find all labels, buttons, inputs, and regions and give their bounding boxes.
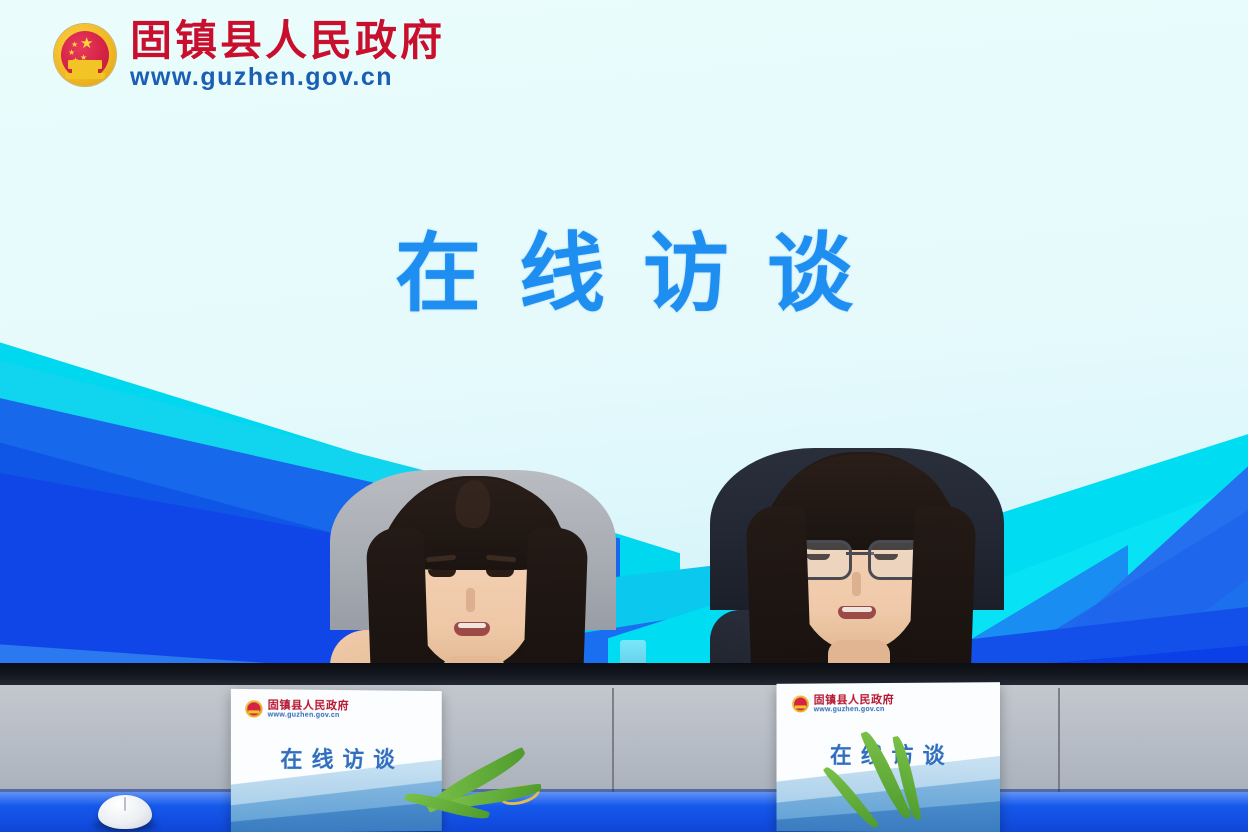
desk-gloss-highlight <box>0 792 1248 806</box>
person-left-teeth <box>458 623 486 628</box>
placard-title: 在线访谈 <box>231 742 442 775</box>
desk-dark-band <box>0 663 1248 685</box>
mouse-button-split <box>124 797 126 811</box>
computer-mouse[interactable] <box>98 795 152 829</box>
placard-emblem-disc <box>247 703 260 716</box>
person-right-nose <box>852 572 861 596</box>
placard-website: www.guzhen.gov.cn <box>814 706 894 714</box>
emblem-base <box>65 73 105 79</box>
placard-national-emblem-icon <box>792 696 809 713</box>
placard-emblem-gate <box>795 706 806 709</box>
placard-logo-left: 固镇县人民政府 www.guzhen.gov.cn <box>245 699 349 720</box>
desk-placard-left: 固镇县人民政府 www.guzhen.gov.cn 在线访谈 <box>231 689 442 832</box>
broadcast-screenshot: ★ ★ ★ ★ ★ 固镇县人民政府 www.guzhen.gov.cn 在线访谈 <box>0 0 1248 832</box>
person-left-nose <box>466 588 475 612</box>
organization-name: 固镇县人民政府 <box>130 20 445 63</box>
placard-national-emblem-icon <box>245 701 262 718</box>
placard-logo-text: 固镇县人民政府 www.guzhen.gov.cn <box>268 699 349 719</box>
eyeglasses-icon <box>792 540 928 574</box>
person-left-eye-right <box>486 570 514 577</box>
person-right-teeth <box>842 607 872 612</box>
desk-placard-right: 固镇县人民政府 www.guzhen.gov.cn 在线访谈 <box>777 682 1000 832</box>
placard-logo-right: 固镇县人民政府 www.guzhen.gov.cn <box>792 694 894 714</box>
desk-panel-seam-left <box>612 688 614 794</box>
placard-logo-text: 固镇县人民政府 www.guzhen.gov.cn <box>814 694 894 714</box>
logo-text-block: 固镇县人民政府 www.guzhen.gov.cn <box>130 20 445 90</box>
placard-organization-name: 固镇县人民政府 <box>814 694 894 707</box>
government-logo: ★ ★ ★ ★ ★ 固镇县人民政府 www.guzhen.gov.cn <box>54 20 445 90</box>
placard-emblem-disc <box>794 698 807 711</box>
desk-front-panel <box>0 685 1248 795</box>
emblem-star-large: ★ <box>80 36 93 51</box>
desk-panel-seam-right <box>1058 688 1060 794</box>
person-left-eye-left <box>428 570 456 577</box>
placard-website: www.guzhen.gov.cn <box>268 712 349 720</box>
placard-emblem-gate <box>248 711 259 714</box>
backdrop-title: 在线访谈 <box>0 225 1248 324</box>
placard-organization-name: 固镇县人民政府 <box>268 699 349 712</box>
national-emblem-icon: ★ ★ ★ ★ ★ <box>54 24 116 86</box>
organization-website: www.guzhen.gov.cn <box>130 65 445 90</box>
